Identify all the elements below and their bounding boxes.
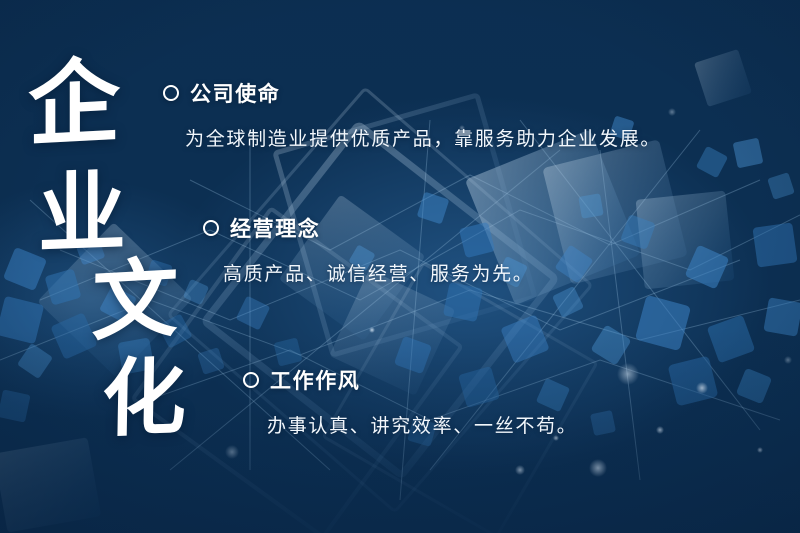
culture-sections: 公司使命 为全球制造业提供优质产品，靠服务助力企业发展。 经营理念 高质产品、诚…: [0, 0, 800, 533]
section-heading: 经营理念: [230, 213, 320, 243]
section-description: 高质产品、诚信经营、服务为先。: [223, 259, 534, 286]
section-description: 为全球制造业提供优质产品，靠服务助力企业发展。: [185, 124, 661, 151]
hollow-circle-icon: [203, 220, 219, 236]
section-heading: 公司使命: [190, 78, 280, 108]
section-heading-row: 工作作风: [243, 365, 578, 395]
section-description: 办事认真、讲究效率、一丝不苟。: [267, 411, 578, 438]
section-heading: 工作作风: [270, 365, 360, 395]
hollow-circle-icon: [163, 85, 179, 101]
culture-section-philosophy: 经营理念 高质产品、诚信经营、服务为先。: [203, 213, 534, 286]
section-heading-row: 经营理念: [203, 213, 534, 243]
culture-section-mission: 公司使命 为全球制造业提供优质产品，靠服务助力企业发展。: [163, 78, 661, 151]
section-heading-row: 公司使命: [163, 78, 661, 108]
hollow-circle-icon: [243, 372, 259, 388]
corporate-culture-banner: 企 业 文 化 公司使命 为全球制造业提供优质产品，靠服务助力企业发展。 经营理…: [0, 0, 800, 533]
culture-section-workstyle: 工作作风 办事认真、讲究效率、一丝不苟。: [243, 365, 578, 438]
